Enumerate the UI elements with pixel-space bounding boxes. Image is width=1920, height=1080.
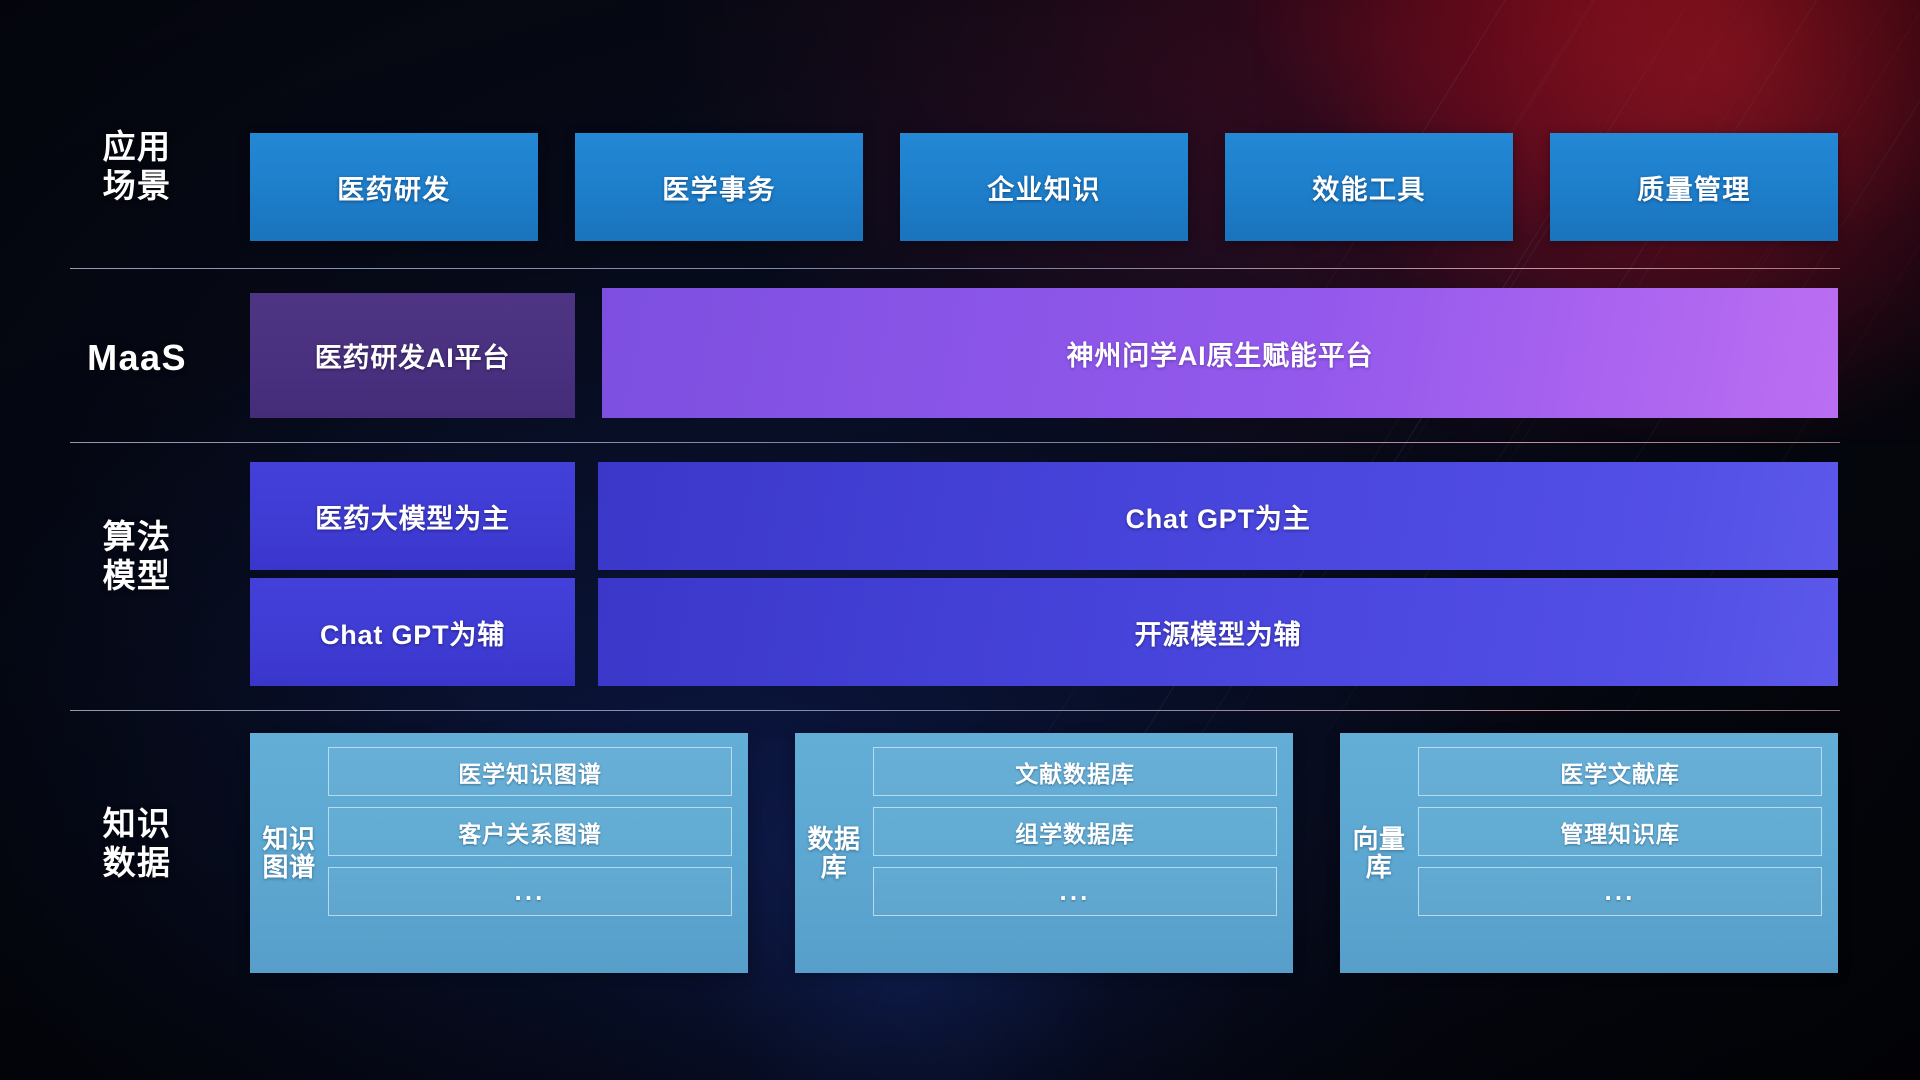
row-label-scenario-line1: 应用 (72, 128, 202, 167)
scenario-box-2-label: 企业知识 (987, 168, 1100, 207)
maas-left-box[interactable]: 医药研发AI平台 (250, 293, 575, 418)
algorithm-row1-left-label: 医药大模型为主 (315, 497, 510, 536)
scenario-box-4[interactable]: 质量管理 (1550, 133, 1838, 241)
algorithm-row2-right-box[interactable]: 开源模型为辅 (598, 578, 1838, 686)
knowledge-panel-0-item-0[interactable]: 医学知识图谱 (328, 747, 732, 796)
scenario-box-0[interactable]: 医药研发 (250, 133, 538, 241)
knowledge-panel-1-item-1-label: 组学数据库 (1015, 815, 1135, 849)
knowledge-panel-0-item-1-label: 客户关系图谱 (458, 815, 602, 849)
knowledge-panel-2-item-2-label: ... (1604, 876, 1635, 907)
knowledge-panel-2-item-1[interactable]: 管理知识库 (1418, 807, 1822, 856)
scenario-box-3-label: 效能工具 (1312, 168, 1425, 207)
row-label-knowledge: 知识 数据 (72, 805, 202, 883)
knowledge-panel-1-item-0-label: 文献数据库 (1015, 755, 1135, 789)
divider-scenario-maas (70, 268, 1840, 269)
knowledge-panel-1[interactable]: 数据库 文献数据库 组学数据库 ... (795, 733, 1293, 973)
knowledge-panel-2-item-0[interactable]: 医学文献库 (1418, 747, 1822, 796)
knowledge-panel-2-item-2[interactable]: ... (1418, 867, 1822, 916)
knowledge-panel-0-items: 医学知识图谱 客户关系图谱 ... (328, 747, 732, 959)
row-label-algorithm-line1: 算法 (72, 518, 202, 557)
knowledge-panel-1-item-0[interactable]: 文献数据库 (873, 747, 1277, 796)
knowledge-panel-2-vertical-label: 向量库 (1352, 747, 1406, 959)
knowledge-panel-0-item-2[interactable]: ... (328, 867, 732, 916)
row-label-knowledge-line1: 知识 (72, 805, 202, 844)
algorithm-row2-left-label: Chat GPT为辅 (320, 613, 505, 652)
algorithm-row1-right-box[interactable]: Chat GPT为主 (598, 462, 1838, 570)
knowledge-panel-0-item-0-label: 医学知识图谱 (458, 755, 602, 789)
knowledge-panel-2-item-1-label: 管理知识库 (1560, 815, 1680, 849)
knowledge-panel-0-item-1[interactable]: 客户关系图谱 (328, 807, 732, 856)
divider-maas-algorithm (70, 442, 1840, 443)
row-label-scenario-line2: 场景 (72, 167, 202, 206)
row-label-knowledge-line2: 数据 (72, 844, 202, 883)
algorithm-row1-left-box[interactable]: 医药大模型为主 (250, 462, 575, 570)
knowledge-panel-1-item-2-label: ... (1059, 876, 1090, 907)
maas-right-box[interactable]: 神州问学AI原生赋能平台 (602, 288, 1838, 418)
maas-left-box-label: 医药研发AI平台 (315, 336, 510, 375)
algorithm-row2-right-label: 开源模型为辅 (1135, 613, 1302, 652)
knowledge-panel-0-vertical-label: 知识图谱 (262, 747, 316, 959)
row-label-algorithm: 算法 模型 (72, 518, 202, 596)
scenario-box-0-label: 医药研发 (337, 168, 450, 207)
scenario-box-4-label: 质量管理 (1637, 168, 1750, 207)
algorithm-row2-left-box[interactable]: Chat GPT为辅 (250, 578, 575, 686)
knowledge-panel-0[interactable]: 知识图谱 医学知识图谱 客户关系图谱 ... (250, 733, 748, 973)
row-label-maas: MaaS (72, 337, 202, 379)
knowledge-panel-2-item-0-label: 医学文献库 (1560, 755, 1680, 789)
scenario-box-2[interactable]: 企业知识 (900, 133, 1188, 241)
knowledge-panel-0-item-2-label: ... (514, 876, 545, 907)
scenario-box-1[interactable]: 医学事务 (575, 133, 863, 241)
divider-algorithm-knowledge (70, 710, 1840, 711)
maas-right-box-label: 神州问学AI原生赋能平台 (1067, 334, 1374, 373)
row-label-scenario: 应用 场景 (72, 128, 202, 206)
knowledge-panel-1-item-1[interactable]: 组学数据库 (873, 807, 1277, 856)
knowledge-panel-1-item-2[interactable]: ... (873, 867, 1277, 916)
algorithm-row1-right-label: Chat GPT为主 (1125, 497, 1310, 536)
scenario-box-1-label: 医学事务 (662, 168, 775, 207)
knowledge-panel-2-items: 医学文献库 管理知识库 ... (1418, 747, 1822, 959)
knowledge-panel-1-items: 文献数据库 组学数据库 ... (873, 747, 1277, 959)
row-label-algorithm-line2: 模型 (72, 557, 202, 596)
knowledge-panel-2[interactable]: 向量库 医学文献库 管理知识库 ... (1340, 733, 1838, 973)
knowledge-panel-1-vertical-label: 数据库 (807, 747, 861, 959)
scenario-box-3[interactable]: 效能工具 (1225, 133, 1513, 241)
